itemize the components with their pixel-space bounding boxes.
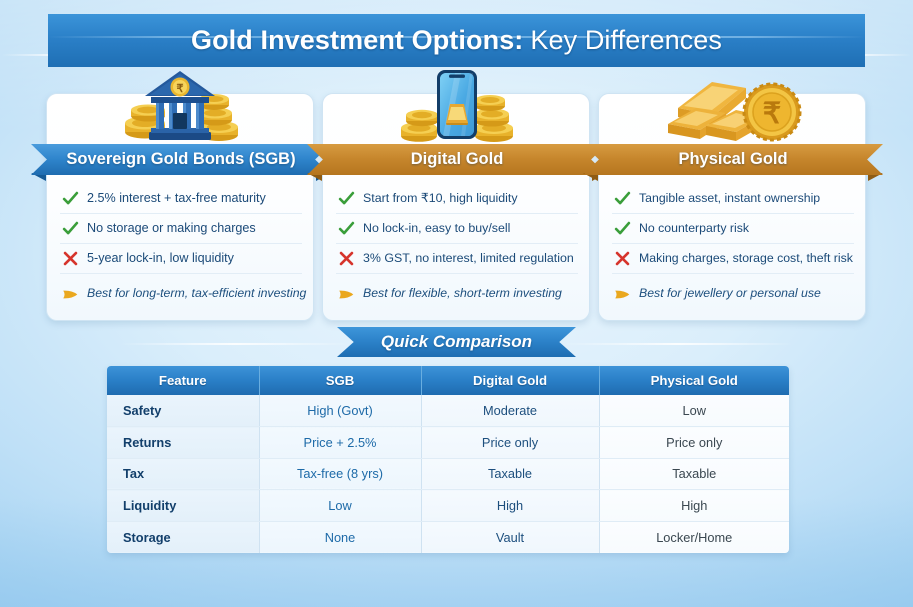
table-row: Liquidity Low High High bbox=[107, 490, 789, 522]
cell-feature: Storage bbox=[107, 521, 259, 553]
check-icon bbox=[62, 190, 79, 207]
cell-sgb: Price + 2.5% bbox=[259, 427, 421, 459]
cell-feature: Safety bbox=[107, 395, 259, 427]
title-banner: Gold Investment Options: Key Differences bbox=[0, 14, 913, 67]
check-icon bbox=[338, 220, 355, 237]
card-point: No storage or making charges bbox=[60, 214, 302, 244]
smartphone-gold-bar-icon bbox=[323, 66, 591, 144]
quick-comparison-banner: Quick Comparison bbox=[0, 327, 913, 359]
card-title-physical-gold: Physical Gold bbox=[583, 144, 883, 175]
table-row: Returns Price + 2.5% Price only Price on… bbox=[107, 427, 789, 459]
card-title-digital-gold: Digital Gold bbox=[307, 144, 607, 175]
cell-feature: Returns bbox=[107, 427, 259, 459]
card-point-text: 2.5% interest + tax-free maturity bbox=[87, 192, 266, 206]
svg-text:₹: ₹ bbox=[763, 98, 781, 130]
card-point-text: Making charges, storage cost, theft risk bbox=[639, 252, 853, 266]
cell-sgb: Low bbox=[259, 490, 421, 522]
card-list-sgb: 2.5% interest + tax-free maturity No sto… bbox=[60, 184, 302, 310]
cell-digital: Taxable bbox=[421, 458, 599, 490]
table-row: Safety High (Govt) Moderate Low bbox=[107, 395, 789, 427]
card-list-digital-gold: Start from ₹10, high liquidity No lock-i… bbox=[336, 184, 578, 310]
arrow-bullet-icon bbox=[62, 286, 79, 303]
cell-sgb: None bbox=[259, 521, 421, 553]
column-header-feature[interactable]: Feature bbox=[107, 366, 259, 395]
qc-rule-left bbox=[120, 343, 350, 345]
cell-digital: High bbox=[421, 490, 599, 522]
card-digital-gold[interactable]: Digital Gold Start from ₹10, high liquid… bbox=[322, 93, 590, 321]
cell-physical: High bbox=[599, 490, 789, 522]
page-title-thin: Key Differences bbox=[530, 25, 722, 56]
card-point-text: No storage or making charges bbox=[87, 222, 256, 236]
card-point: 2.5% interest + tax-free maturity bbox=[60, 184, 302, 214]
cell-digital: Moderate bbox=[421, 395, 599, 427]
card-best-for-text: Best for long-term, tax-efficient invest… bbox=[87, 287, 306, 301]
cell-feature: Tax bbox=[107, 458, 259, 490]
table-row: Tax Tax-free (8 yrs) Taxable Taxable bbox=[107, 458, 789, 490]
table-body: Safety High (Govt) Moderate Low Returns … bbox=[107, 395, 789, 553]
cross-icon bbox=[338, 250, 355, 267]
cell-digital: Price only bbox=[421, 427, 599, 459]
card-point: 5-year lock-in, low liquidity bbox=[60, 244, 302, 274]
card-point-text: No counterparty risk bbox=[639, 222, 749, 236]
comparison-table: Feature SGB Digital Gold Physical Gold S… bbox=[107, 366, 789, 553]
card-physical-gold[interactable]: ₹ Physical Gold Tangible asset, instant … bbox=[598, 93, 866, 321]
table-header-row: Feature SGB Digital Gold Physical Gold bbox=[107, 366, 789, 395]
card-ribbon-digital-gold: Digital Gold bbox=[307, 144, 607, 179]
check-icon bbox=[614, 190, 631, 207]
column-header-digital-gold[interactable]: Digital Gold bbox=[421, 366, 599, 395]
cell-physical: Locker/Home bbox=[599, 521, 789, 553]
card-best-for: Best for flexible, short-term investing bbox=[336, 278, 578, 310]
card-ribbon-sgb: Sovereign Gold Bonds (SGB) bbox=[31, 144, 331, 179]
page-title: Gold Investment Options: Key Differences bbox=[0, 14, 913, 67]
column-header-physical-gold[interactable]: Physical Gold bbox=[599, 366, 789, 395]
card-point: 3% GST, no interest, limited regulation bbox=[336, 244, 578, 274]
cross-icon bbox=[614, 250, 631, 267]
card-point: Start from ₹10, high liquidity bbox=[336, 184, 578, 214]
svg-text:₹: ₹ bbox=[177, 83, 184, 95]
cross-icon bbox=[62, 250, 79, 267]
cell-sgb: Tax-free (8 yrs) bbox=[259, 458, 421, 490]
comparison-table-wrapper: Feature SGB Digital Gold Physical Gold S… bbox=[107, 366, 789, 553]
bank-with-coins-icon: ₹ bbox=[47, 66, 315, 144]
check-icon bbox=[62, 220, 79, 237]
qc-rule-right bbox=[563, 343, 793, 345]
card-point-text: 5-year lock-in, low liquidity bbox=[87, 252, 234, 266]
column-header-sgb[interactable]: SGB bbox=[259, 366, 421, 395]
card-point-text: No lock-in, easy to buy/sell bbox=[363, 222, 510, 236]
cell-physical: Low bbox=[599, 395, 789, 427]
card-point-text: Start from ₹10, high liquidity bbox=[363, 192, 518, 206]
page-title-bold: Gold Investment Options: bbox=[191, 25, 523, 56]
card-point-text: Tangible asset, instant ownership bbox=[639, 192, 820, 206]
card-point: Making charges, storage cost, theft risk bbox=[612, 244, 854, 274]
card-best-for: Best for jewellery or personal use bbox=[612, 278, 854, 310]
card-list-physical-gold: Tangible asset, instant ownership No cou… bbox=[612, 184, 854, 310]
card-point: Tangible asset, instant ownership bbox=[612, 184, 854, 214]
card-title-sgb: Sovereign Gold Bonds (SGB) bbox=[31, 144, 331, 175]
table-header: Feature SGB Digital Gold Physical Gold bbox=[107, 366, 789, 395]
cell-physical: Price only bbox=[599, 427, 789, 459]
card-ribbon-physical-gold: Physical Gold bbox=[583, 144, 883, 179]
card-point: No counterparty risk bbox=[612, 214, 854, 244]
check-icon bbox=[338, 190, 355, 207]
arrow-bullet-icon bbox=[614, 286, 631, 303]
card-best-for: Best for long-term, tax-efficient invest… bbox=[60, 278, 302, 310]
cell-digital: Vault bbox=[421, 521, 599, 553]
arrow-bullet-icon bbox=[338, 286, 355, 303]
card-best-for-text: Best for flexible, short-term investing bbox=[363, 287, 562, 301]
card-point: No lock-in, easy to buy/sell bbox=[336, 214, 578, 244]
check-icon bbox=[614, 220, 631, 237]
table-row: Storage None Vault Locker/Home bbox=[107, 521, 789, 553]
cell-feature: Liquidity bbox=[107, 490, 259, 522]
card-best-for-text: Best for jewellery or personal use bbox=[639, 287, 821, 301]
cell-sgb: High (Govt) bbox=[259, 395, 421, 427]
card-point-text: 3% GST, no interest, limited regulation bbox=[363, 252, 574, 266]
cards-row: ₹ Sovereign Gold Bonds (SGB) 2.5% intere… bbox=[0, 93, 913, 321]
cell-physical: Taxable bbox=[599, 458, 789, 490]
quick-comparison-title: Quick Comparison bbox=[337, 327, 576, 357]
gold-bars-rupee-coin-icon: ₹ bbox=[599, 66, 867, 144]
card-sovereign-gold-bonds[interactable]: ₹ Sovereign Gold Bonds (SGB) 2.5% intere… bbox=[46, 93, 314, 321]
